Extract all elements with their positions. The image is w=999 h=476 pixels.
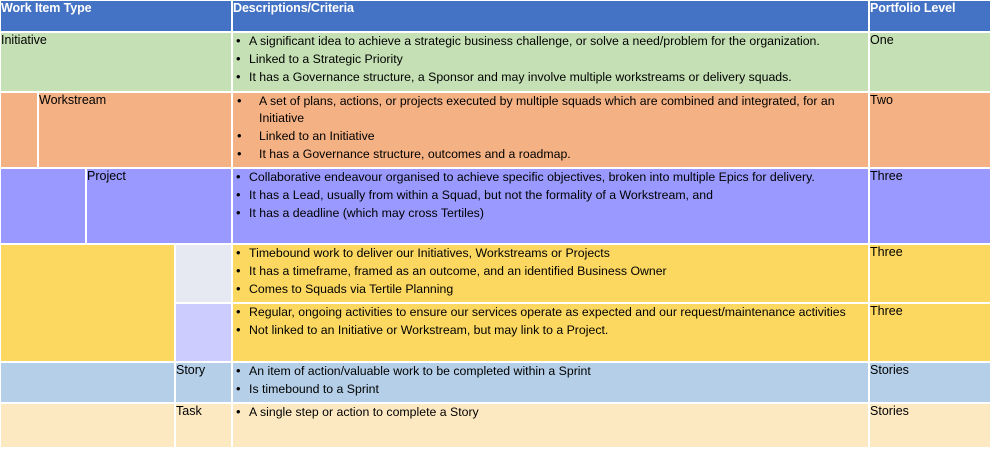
bullet-item: Linked to a Strategic Priority [249, 51, 868, 68]
bullet-item: It has a deadline (which may cross Terti… [249, 205, 868, 222]
row-description-story: An item of action/valuable work to be co… [232, 362, 869, 403]
bullet-item: Not linked to an Initiative or Workstrea… [249, 322, 868, 339]
bullet-item: It has a Governance structure, outcomes … [259, 146, 868, 163]
table-header: Work Item Type Descriptions/Criteria Por… [0, 0, 991, 32]
row-label-initiative: Initiative [0, 32, 232, 92]
column-header-work-item-type[interactable]: Work Item Type [0, 0, 232, 32]
row-description-epic: Timebound work to deliver our Initiative… [232, 244, 869, 303]
bullet-item: A single step or action to complete a St… [249, 404, 868, 421]
row-description-workstream: A set of plans, actions, or projects exe… [232, 92, 869, 168]
bullet-list-story: An item of action/valuable work to be co… [233, 363, 868, 398]
bullet-list-initiative: A significant idea to achieve a strategi… [233, 33, 868, 86]
bullet-list-project: Collaborative endeavour organised to ach… [233, 169, 868, 222]
bullet-item: It has a Lead, usually from within a Squ… [249, 187, 868, 204]
bullet-item: Is timebound to a Sprint [249, 381, 868, 398]
row-indent-spacer-workstream [0, 92, 38, 168]
table-body: Initiative A significant idea to achieve… [0, 32, 991, 448]
row-label-task: Task [175, 403, 232, 448]
row-description-initiative: A significant idea to achieve a strategi… [232, 32, 869, 92]
table-row-story[interactable]: Story An item of action/valuable work to… [0, 362, 991, 403]
row-portfolio-level-project: Three [869, 168, 991, 244]
row-label-project: Project [86, 168, 232, 244]
table-row-task[interactable]: Task A single step or action to complete… [0, 403, 991, 448]
table-row-workstream[interactable]: Workstream A set of plans, actions, or p… [0, 92, 991, 168]
bullet-item: Linked to an Initiative [259, 128, 868, 145]
row-indent-spacer-epic [0, 244, 175, 362]
row-portfolio-level-bau: Three [869, 303, 991, 362]
table-header-row: Work Item Type Descriptions/Criteria Por… [0, 0, 991, 32]
bullet-item: Timebound work to deliver our Initiative… [249, 245, 868, 262]
row-indent-spacer-project [0, 168, 86, 244]
row-label-bau [175, 303, 232, 362]
bullet-list-bau: Regular, ongoing activities to ensure ou… [233, 304, 868, 339]
row-label-epic [175, 244, 232, 303]
bullet-item: Collaborative endeavour organised to ach… [249, 169, 868, 186]
bullet-item: Regular, ongoing activities to ensure ou… [249, 304, 868, 321]
bullet-item: Comes to Squads via Tertile Planning [249, 281, 868, 298]
row-portfolio-level-epic: Three [869, 244, 991, 303]
column-header-descriptions-criteria[interactable]: Descriptions/Criteria [232, 0, 869, 32]
work-item-type-table: Work Item Type Descriptions/Criteria Por… [0, 0, 991, 448]
row-label-workstream: Workstream [38, 92, 232, 168]
bullet-item: An item of action/valuable work to be co… [249, 363, 868, 380]
row-label-story: Story [175, 362, 232, 403]
row-portfolio-level-initiative: One [869, 32, 991, 92]
work-item-type-table-sheet: Work Item Type Descriptions/Criteria Por… [0, 0, 999, 476]
bullet-item: It has a timeframe, framed as an outcome… [249, 263, 868, 280]
bullet-item: A set of plans, actions, or projects exe… [259, 93, 868, 128]
row-description-project: Collaborative endeavour organised to ach… [232, 168, 869, 244]
table-row-initiative[interactable]: Initiative A significant idea to achieve… [0, 32, 991, 92]
row-indent-spacer-task [0, 403, 175, 448]
column-header-portfolio-level[interactable]: Portfolio Level [869, 0, 991, 32]
bullet-item: It has a Governance structure, a Sponsor… [249, 69, 868, 86]
table-row-project[interactable]: Project Collaborative endeavour organise… [0, 168, 991, 244]
bullet-list-task: A single step or action to complete a St… [233, 404, 868, 421]
table-row-epic[interactable]: Timebound work to deliver our Initiative… [0, 244, 991, 303]
bullet-list-epic: Timebound work to deliver our Initiative… [233, 245, 868, 298]
row-portfolio-level-task: Stories [869, 403, 991, 448]
row-description-task: A single step or action to complete a St… [232, 403, 869, 448]
row-indent-spacer-story [0, 362, 175, 403]
row-portfolio-level-workstream: Two [869, 92, 991, 168]
bullet-list-workstream: A set of plans, actions, or projects exe… [233, 93, 868, 164]
bullet-item: A significant idea to achieve a strategi… [249, 33, 868, 50]
row-portfolio-level-story: Stories [869, 362, 991, 403]
row-description-bau: Regular, ongoing activities to ensure ou… [232, 303, 869, 362]
